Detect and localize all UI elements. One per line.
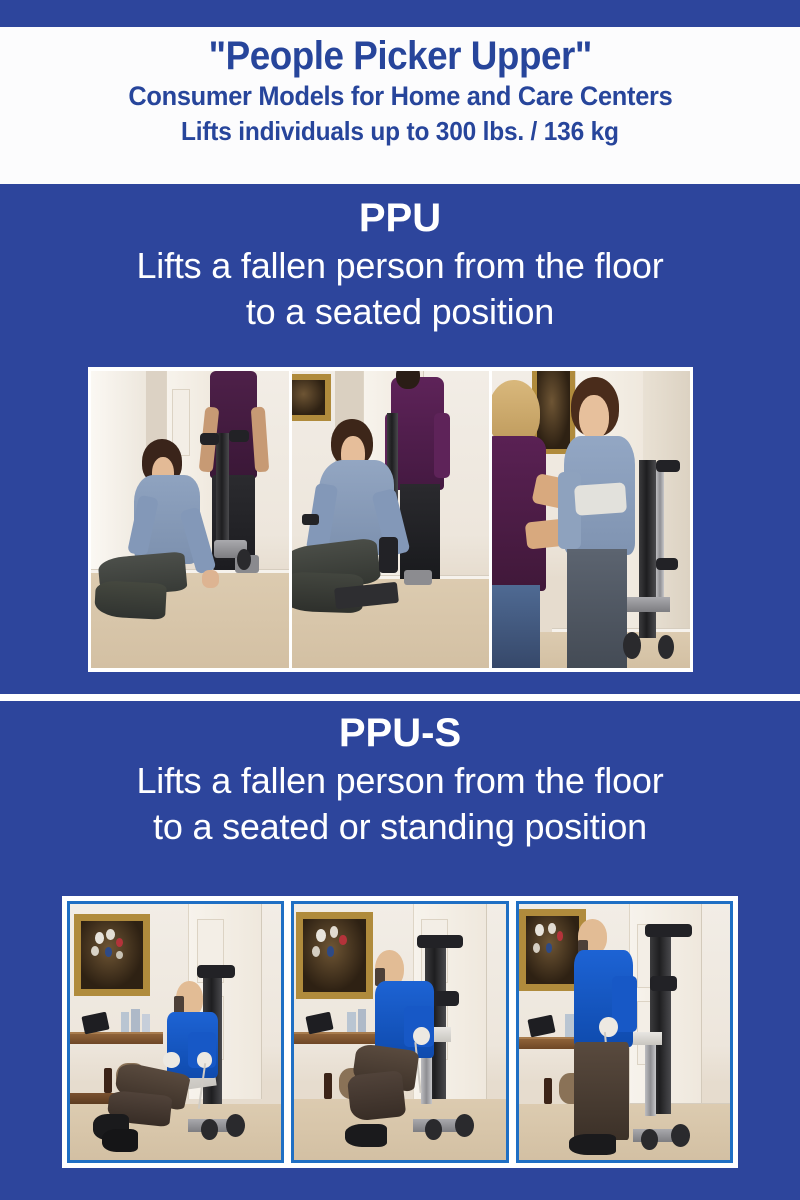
photo-ppu-s-2 <box>291 901 508 1163</box>
page-title: "People Picker Upper" <box>208 35 591 78</box>
photo-ppu-1 <box>91 371 289 668</box>
model-description-ppu-line1: Lifts a fallen person from the floor <box>10 243 790 289</box>
model-description-ppu-s-line2: to a seated or standing position <box>10 804 790 850</box>
model-description-ppu-s-line1: Lifts a fallen person from the floor <box>10 758 790 804</box>
model-description-ppu: Lifts a fallen person from the floor to … <box>0 241 800 335</box>
photo-ppu-3 <box>492 371 690 668</box>
photo-ppu-s-3 <box>516 901 733 1163</box>
model-description-ppu-line2: to a seated position <box>10 289 790 335</box>
model-description-ppu-s: Lifts a fallen person from the floor to … <box>0 756 800 850</box>
poster: "People Picker Upper" Consumer Models fo… <box>0 0 800 1200</box>
photo-strip-ppu-s <box>62 896 738 1168</box>
header-band: "People Picker Upper" Consumer Models fo… <box>0 27 800 184</box>
photo-strip-ppu <box>88 367 693 672</box>
photo-ppu-s-1 <box>67 901 284 1163</box>
header-subtitle-capacity: Lifts individuals up to 300 lbs. / 136 k… <box>181 116 619 148</box>
model-name-ppu-s: PPU-S <box>0 701 800 756</box>
section-divider <box>0 694 800 701</box>
model-name-ppu: PPU <box>0 184 800 241</box>
header-subtitle-models: Consumer Models for Home and Care Center… <box>128 80 672 113</box>
photo-ppu-2 <box>292 371 490 668</box>
